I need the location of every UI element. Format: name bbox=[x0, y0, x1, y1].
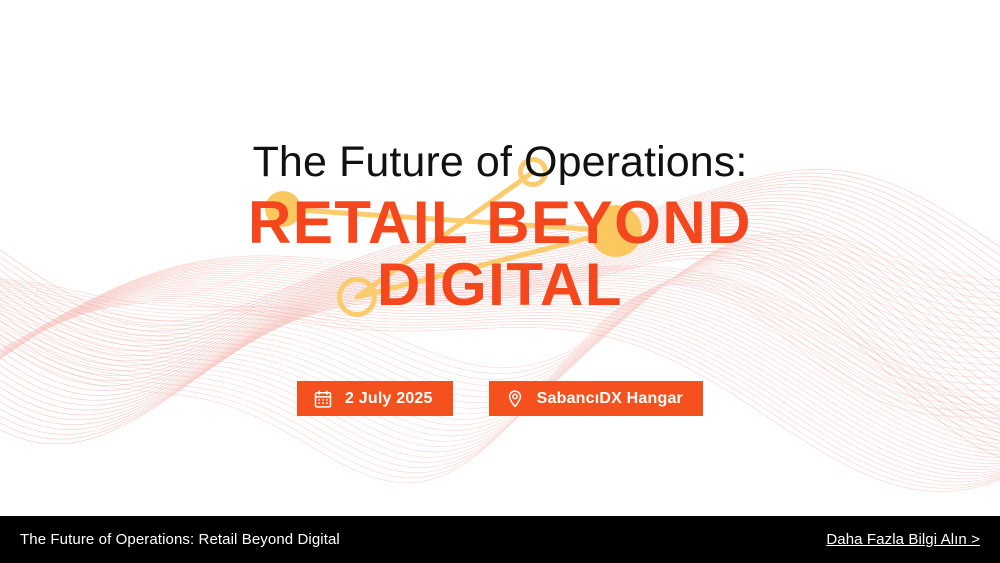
event-info-badges: 2 July 2025 SabancıDX Hangar bbox=[0, 381, 1000, 416]
event-date-label: 2 July 2025 bbox=[345, 390, 433, 408]
hero-title-block: The Future of Operations: RETAIL BEYOND … bbox=[0, 135, 1000, 316]
presentation-slide: The Future of Operations: RETAIL BEYOND … bbox=[0, 0, 1000, 563]
event-date-badge[interactable]: 2 July 2025 bbox=[297, 381, 453, 416]
event-venue-badge[interactable]: SabancıDX Hangar bbox=[489, 381, 703, 416]
more-info-link[interactable]: Daha Fazla Bilgi Alın > bbox=[826, 531, 980, 548]
calendar-icon bbox=[313, 389, 333, 409]
hero-subtitle-line: The Future of Operations: bbox=[0, 135, 1000, 189]
location-pin-icon bbox=[505, 389, 525, 409]
hero-title-line-2: DIGITAL bbox=[0, 254, 1000, 316]
event-venue-label: SabancıDX Hangar bbox=[537, 390, 683, 408]
hero-title-line-1: RETAIL BEYOND bbox=[0, 192, 1000, 254]
bottom-bar-title: The Future of Operations: Retail Beyond … bbox=[20, 531, 340, 548]
bottom-bar: The Future of Operations: Retail Beyond … bbox=[0, 516, 1000, 563]
